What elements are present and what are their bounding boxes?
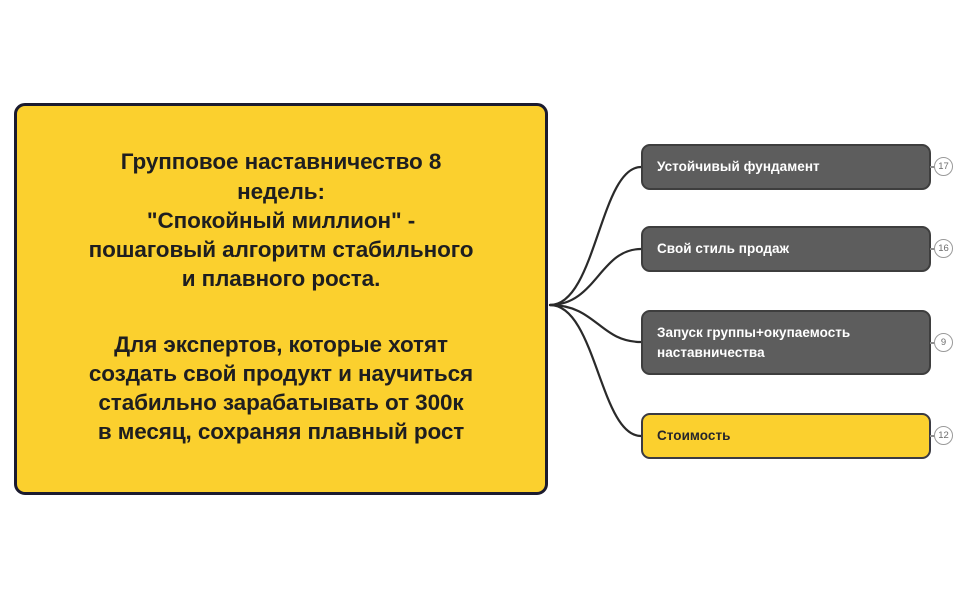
branch-node-3-count-badge[interactable]: 9 bbox=[934, 333, 953, 352]
root-title: Групповое наставничество 8 недель: "Спок… bbox=[37, 147, 525, 293]
branch-node-3-label: Запуск группы+окупаемость наставничества bbox=[657, 323, 850, 361]
mindmap-canvas: Групповое наставничество 8 недель: "Спок… bbox=[0, 0, 971, 601]
branch-node-1-count-badge[interactable]: 17 bbox=[934, 157, 953, 176]
branch-node-2-count-badge[interactable]: 16 bbox=[934, 239, 953, 258]
branch-node-1[interactable]: Устойчивый фундамент bbox=[641, 144, 931, 190]
branch-node-4-count-badge[interactable]: 12 bbox=[934, 426, 953, 445]
connector-line-3 bbox=[550, 305, 641, 342]
connector-line-2 bbox=[550, 249, 641, 305]
connector-line-1 bbox=[550, 167, 641, 305]
root-subtitle: Для экспертов, которые хотят создать сво… bbox=[37, 330, 525, 447]
branch-node-4[interactable]: Стоимость bbox=[641, 413, 931, 459]
branch-node-3[interactable]: Запуск группы+окупаемость наставничества bbox=[641, 310, 931, 375]
branch-node-1-label: Устойчивый фундамент bbox=[657, 157, 820, 176]
branch-node-2[interactable]: Свой стиль продаж bbox=[641, 226, 931, 272]
branch-node-2-label: Свой стиль продаж bbox=[657, 239, 789, 258]
root-node[interactable]: Групповое наставничество 8 недель: "Спок… bbox=[14, 103, 548, 495]
branch-node-4-label: Стоимость bbox=[657, 426, 730, 445]
connector-line-4 bbox=[550, 305, 641, 436]
